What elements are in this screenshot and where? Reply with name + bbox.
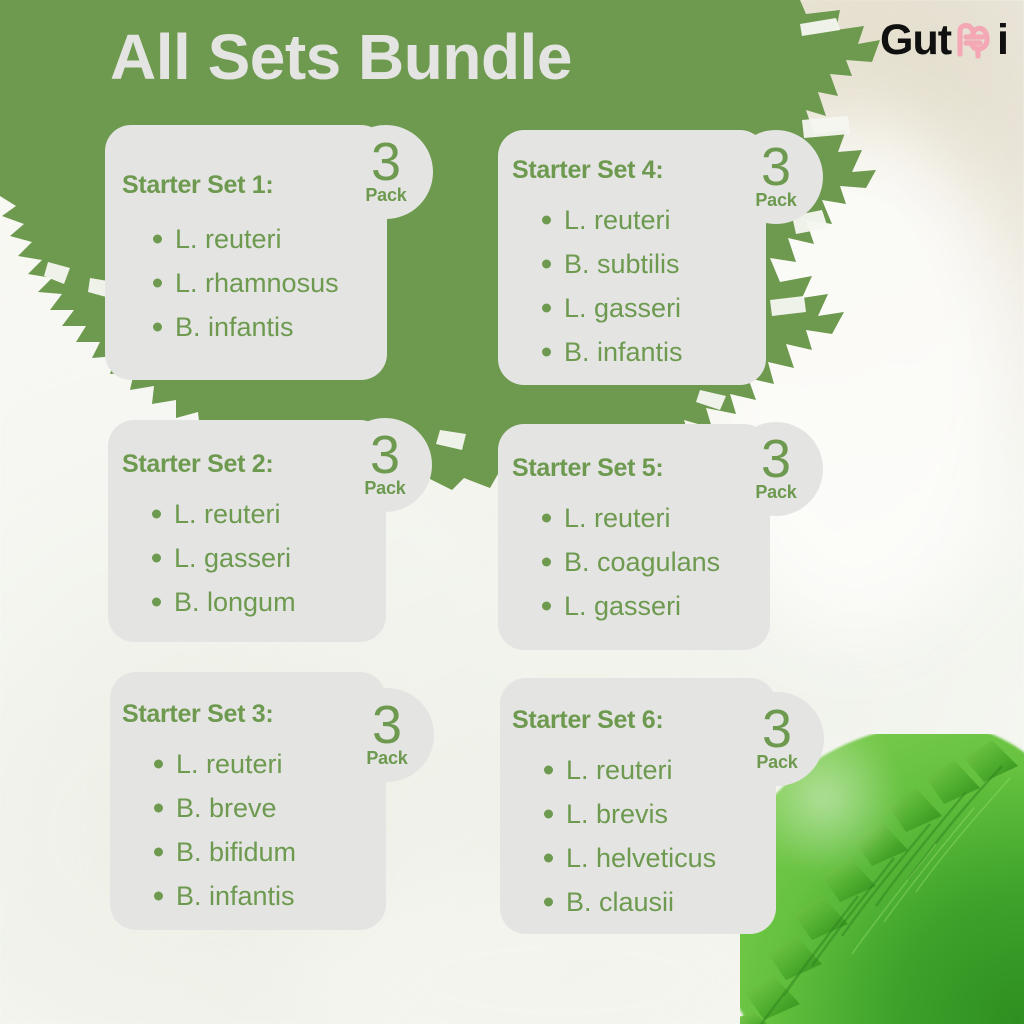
brand-logo[interactable]: Gut i [880,18,1008,62]
list-item: B. longum [148,580,296,624]
pack-count: 3 [761,145,791,189]
strain-list: L. reuteri L. brevis L. helveticus B. cl… [540,748,716,924]
list-item: L. reuteri [538,496,720,540]
list-item: L. reuteri [150,742,296,786]
list-item: B. clausii [540,880,716,924]
card-title: Starter Set 1: [122,171,273,200]
pack-label: Pack [756,753,797,771]
pack-label: Pack [364,479,405,497]
list-item: L. reuteri [540,748,716,792]
card-title: Starter Set 5: [512,454,663,483]
list-item: B. infantis [538,330,683,374]
card-title: Starter Set 2: [122,450,273,479]
list-item: L. brevis [540,792,716,836]
list-item: L. helveticus [540,836,716,880]
list-item: B. coagulans [538,540,720,584]
strain-list: L. reuteri B. breve B. bifidum B. infant… [150,742,296,918]
pack-badge: 3 Pack [338,418,432,512]
pack-label: Pack [755,191,796,209]
pack-count: 3 [762,707,792,751]
pack-badge: 3 Pack [729,422,823,516]
pack-count: 3 [370,433,400,477]
intestine-icon [952,18,996,62]
pack-badge: 3 Pack [340,688,434,782]
pack-label: Pack [365,186,406,204]
list-item: L. reuteri [149,217,339,261]
card-title: Starter Set 6: [512,706,663,735]
list-item: L. reuteri [538,198,683,242]
list-item: B. infantis [150,874,296,918]
card-title: Starter Set 4: [512,156,663,185]
list-item: L. gasseri [148,536,296,580]
pack-badge: 3 Pack [339,125,433,219]
starter-set-card[interactable]: Starter Set 3: L. reuteri B. breve B. bi… [110,672,386,930]
page-title: All Sets Bundle [110,24,572,91]
strain-list: L. reuteri B. coagulans L. gasseri [538,496,720,628]
list-item: L. reuteri [148,492,296,536]
pack-label: Pack [366,749,407,767]
promo-graphic: All Sets Bundle Gut i Starter Set 1: L. … [0,0,1024,1024]
logo-text-i: i [997,19,1008,62]
list-item: B. infantis [149,305,339,349]
strain-list: L. reuteri B. subtilis L. gasseri B. inf… [538,198,683,374]
pack-badge: 3 Pack [729,130,823,224]
strain-list: L. reuteri L. gasseri B. longum [148,492,296,624]
list-item: B. bifidum [150,830,296,874]
pack-badge: 3 Pack [730,692,824,786]
pack-count: 3 [372,703,402,747]
list-item: L. gasseri [538,286,683,330]
list-item: B. breve [150,786,296,830]
logo-text-gut: Gut [880,19,951,62]
list-item: L. gasseri [538,584,720,628]
starter-set-card[interactable]: Starter Set 4: L. reuteri B. subtilis L.… [498,130,766,385]
pack-count: 3 [761,437,791,481]
list-item: L. rhamnosus [149,261,339,305]
card-title: Starter Set 3: [122,700,273,729]
pack-count: 3 [371,140,401,184]
pack-label: Pack [755,483,796,501]
strain-list: L. reuteri L. rhamnosus B. infantis [149,217,339,349]
list-item: B. subtilis [538,242,683,286]
